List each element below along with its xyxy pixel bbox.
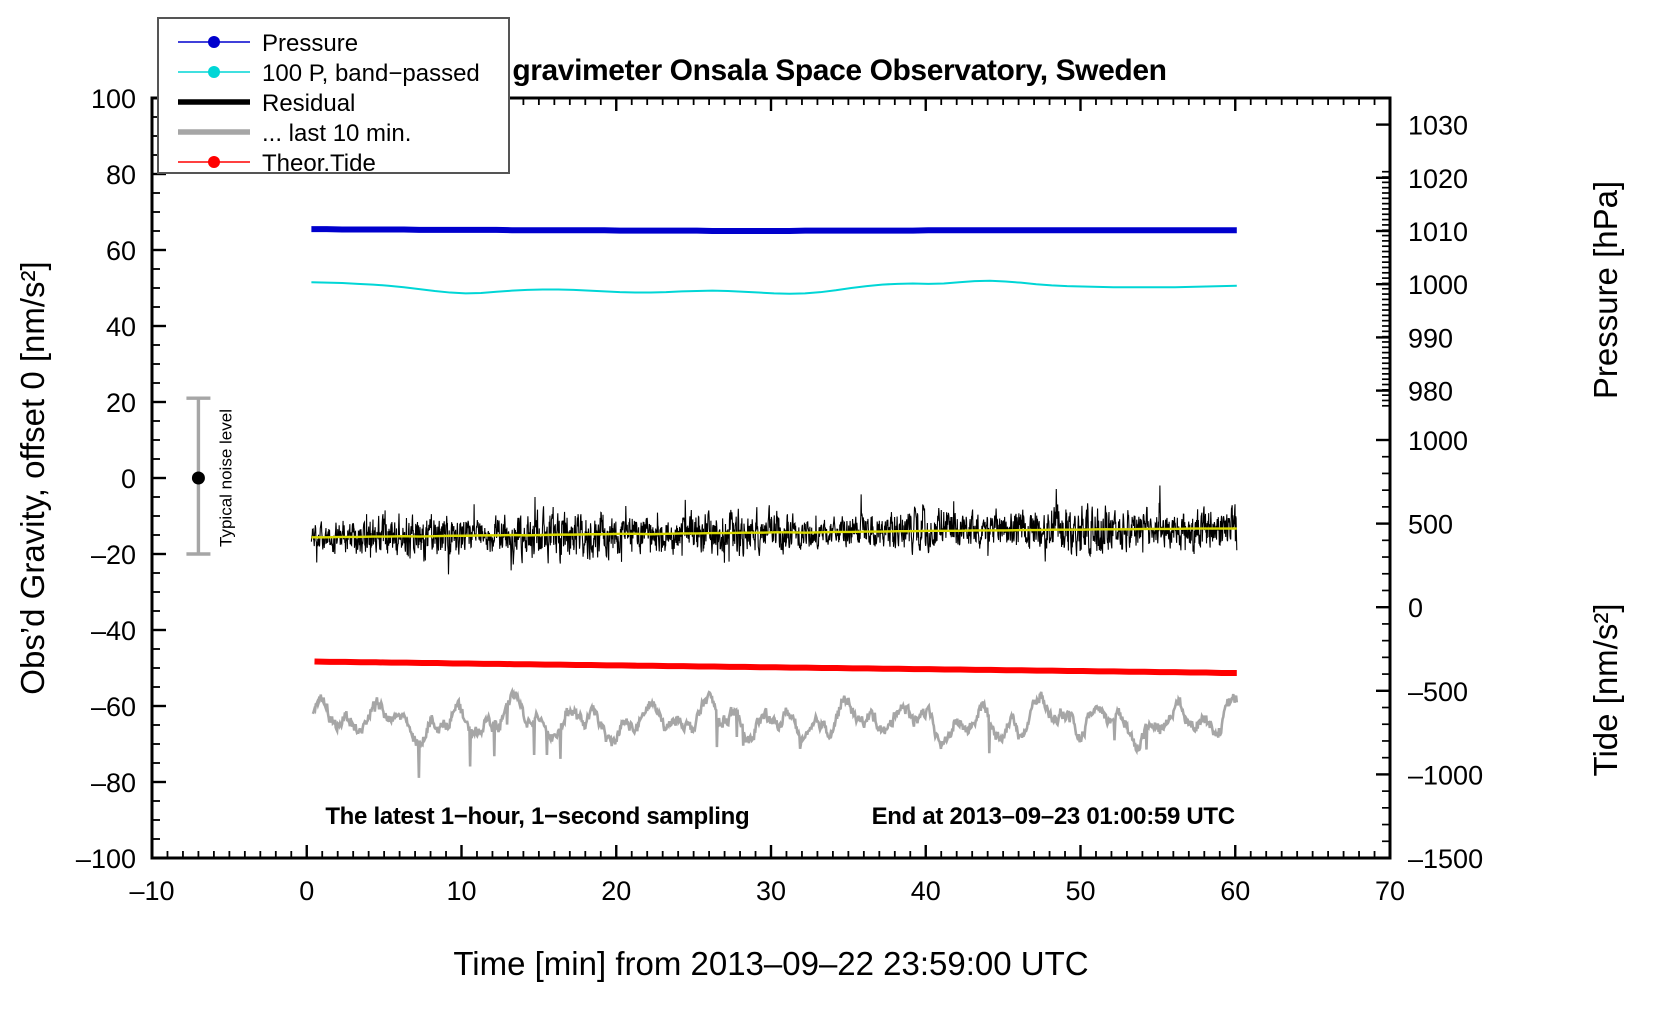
tide-tick-label: –500 xyxy=(1408,677,1468,707)
pressure-tick-label: 1010 xyxy=(1408,217,1468,247)
x-tick-label: 0 xyxy=(299,876,314,906)
x-tick-label: 60 xyxy=(1220,876,1250,906)
noise-level-label: Typical noise level xyxy=(216,409,235,547)
tide-tick-label: 500 xyxy=(1408,510,1453,540)
x-tick-label: 40 xyxy=(911,876,941,906)
legend-label: Residual xyxy=(262,90,355,117)
pressure-tick-label: 1020 xyxy=(1408,164,1468,194)
x-tick-label: 10 xyxy=(446,876,476,906)
pressure-axis-title: Pressure [hPa] xyxy=(1587,181,1624,399)
y-tick-label: 0 xyxy=(121,464,136,494)
legend-label: ... last 10 min. xyxy=(262,120,411,147)
chart-canvas: –10010203040506070 –100–80–60–40–2002040… xyxy=(0,0,1660,1020)
y-tick-label: 20 xyxy=(106,388,136,418)
y-tick-label: 40 xyxy=(106,312,136,342)
gravimeter-plot: –10010203040506070 –100–80–60–40–2002040… xyxy=(0,0,1660,1020)
y-tick-label: 100 xyxy=(91,84,136,114)
y-tick-label: 60 xyxy=(106,236,136,266)
legend-label: Pressure xyxy=(262,30,358,57)
legend[interactable]: Pressure100 P, band−passedResidual... la… xyxy=(158,18,509,177)
x-axis-title: Time [min] from 2013–09–22 23:59:00 UTC xyxy=(453,945,1088,982)
y-tick-label: –40 xyxy=(91,616,136,646)
y-tick-label: –100 xyxy=(76,844,136,874)
end-time-note: End at 2013–09–23 01:00:59 UTC xyxy=(872,803,1235,830)
tide-tick-label: –1500 xyxy=(1408,844,1483,874)
pressure-tick-label: 990 xyxy=(1408,323,1453,353)
legend-label: Theor.Tide xyxy=(262,150,376,177)
legend-label: 100 P, band−passed xyxy=(262,60,480,87)
y-tick-label: –20 xyxy=(91,540,136,570)
y-tick-label: 80 xyxy=(106,160,136,190)
x-tick-label: 30 xyxy=(756,876,786,906)
y-tick-label: –60 xyxy=(91,692,136,722)
tide-tick-label: 0 xyxy=(1408,593,1423,623)
tide-tick-label: –1000 xyxy=(1408,760,1483,790)
pressure-tick-label: 1000 xyxy=(1408,270,1468,300)
x-tick-label: 50 xyxy=(1065,876,1095,906)
pressure-tick-label: 980 xyxy=(1408,377,1453,407)
x-tick-label: –10 xyxy=(129,876,174,906)
y-axis-title: Obs’d Gravity, offset 0 [nm/s²] xyxy=(14,261,51,694)
series-pressure xyxy=(311,229,1236,231)
sampling-note: The latest 1−hour, 1−second sampling xyxy=(325,803,749,830)
y-tick-label: –80 xyxy=(91,768,136,798)
pressure-tick-label: 1030 xyxy=(1408,111,1468,141)
x-tick-label: 20 xyxy=(601,876,631,906)
x-tick-label: 70 xyxy=(1375,876,1405,906)
tide-tick-label: 1000 xyxy=(1408,426,1468,456)
tide-axis-title: Tide [nm/s²] xyxy=(1587,604,1624,777)
